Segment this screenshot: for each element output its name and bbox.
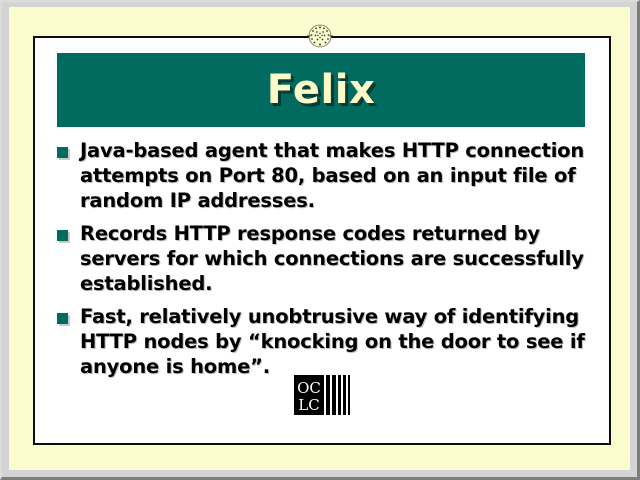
dotted-medallion-ornament-icon [306, 22, 334, 50]
square-bullet-icon [57, 313, 68, 324]
slide-canvas: Felix Java-based agent that makes HTTP c… [33, 36, 611, 445]
bullet-list: Java-based agent that makes HTTP connect… [57, 138, 597, 387]
slide-mat: Felix Java-based agent that makes HTTP c… [9, 7, 630, 470]
square-bullet-icon [57, 230, 68, 241]
slide-window: Felix Java-based agent that makes HTTP c… [0, 0, 640, 480]
bullet-item: Records HTTP response codes returned by … [57, 221, 597, 296]
oclc-logo-line2: LC [298, 396, 319, 414]
bullet-item: Fast, relatively unobtrusive way of iden… [57, 304, 597, 379]
bullet-text: Fast, relatively unobtrusive way of iden… [80, 304, 597, 379]
oclc-logo-line1: OC [297, 379, 321, 397]
bullet-text: Records HTTP response codes returned by … [80, 221, 597, 296]
bullet-item: Java-based agent that makes HTTP connect… [57, 138, 597, 213]
logo-container: OC LC [35, 375, 609, 415]
square-bullet-icon [57, 147, 68, 158]
title-band: Felix [57, 53, 585, 127]
slide-title: Felix [267, 67, 376, 113]
oclc-logo-icon: OC LC [294, 375, 350, 415]
bullet-text: Java-based agent that makes HTTP connect… [80, 138, 597, 213]
